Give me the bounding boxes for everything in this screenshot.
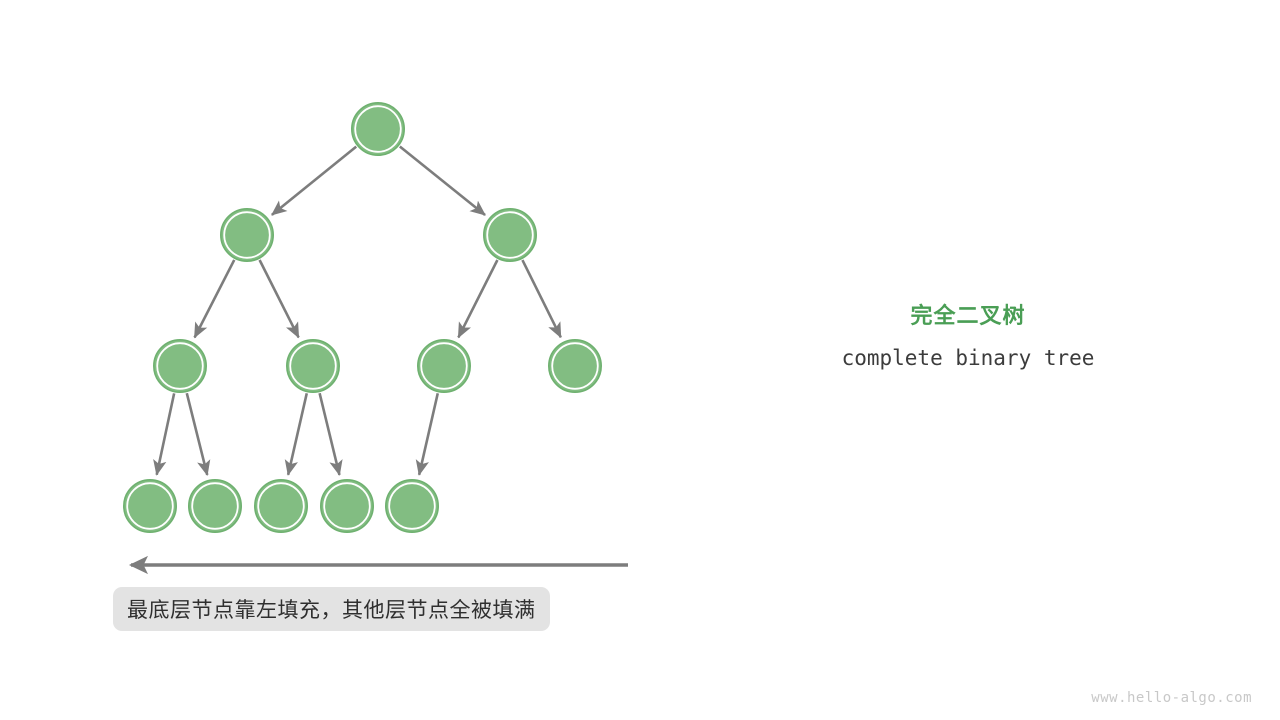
tree-node	[321, 480, 373, 532]
watermark: www.hello-algo.com	[1091, 690, 1252, 706]
tree-node-inner-ring	[389, 483, 435, 529]
tree-node-inner-ring	[258, 483, 304, 529]
tree-edge	[187, 393, 207, 475]
tree-node-inner-ring	[157, 343, 203, 389]
tree-node-inner-ring	[290, 343, 336, 389]
tree-node	[418, 340, 470, 392]
tree-edge	[458, 260, 497, 337]
tree-node-inner-ring	[355, 106, 401, 152]
tree-node-inner-ring	[224, 212, 270, 258]
tree-node	[386, 480, 438, 532]
tree-node-inner-ring	[127, 483, 173, 529]
tree-edge	[320, 393, 340, 475]
tree-node	[189, 480, 241, 532]
tree-node-inner-ring	[552, 343, 598, 389]
tree-node-inner-ring	[487, 212, 533, 258]
tree-node	[255, 480, 307, 532]
tree-node	[287, 340, 339, 392]
legend-subtitle: complete binary tree	[818, 346, 1118, 370]
tree-node	[352, 103, 404, 155]
tree-node	[221, 209, 273, 261]
tree-node	[154, 340, 206, 392]
tree-edge-layer	[157, 147, 561, 475]
tree-edge	[260, 260, 299, 337]
tree-edge	[272, 147, 356, 215]
tree-node	[124, 480, 176, 532]
tree-edge	[195, 260, 235, 338]
legend-title: 完全二叉树	[818, 298, 1118, 330]
caption-text: 最底层节点靠左填充，其他层节点全被填满	[127, 594, 536, 624]
tree-node-layer	[124, 103, 601, 532]
caption-pill: 最底层节点靠左填充，其他层节点全被填满	[113, 587, 550, 631]
tree-node-inner-ring	[324, 483, 370, 529]
tree-node-inner-ring	[421, 343, 467, 389]
tree-edge	[419, 393, 438, 475]
tree-edge	[157, 393, 174, 474]
tree-edge	[522, 260, 560, 337]
tree-node	[549, 340, 601, 392]
tree-node	[484, 209, 536, 261]
tree-node-inner-ring	[192, 483, 238, 529]
tree-edge	[288, 393, 307, 475]
tree-edge	[400, 147, 485, 215]
